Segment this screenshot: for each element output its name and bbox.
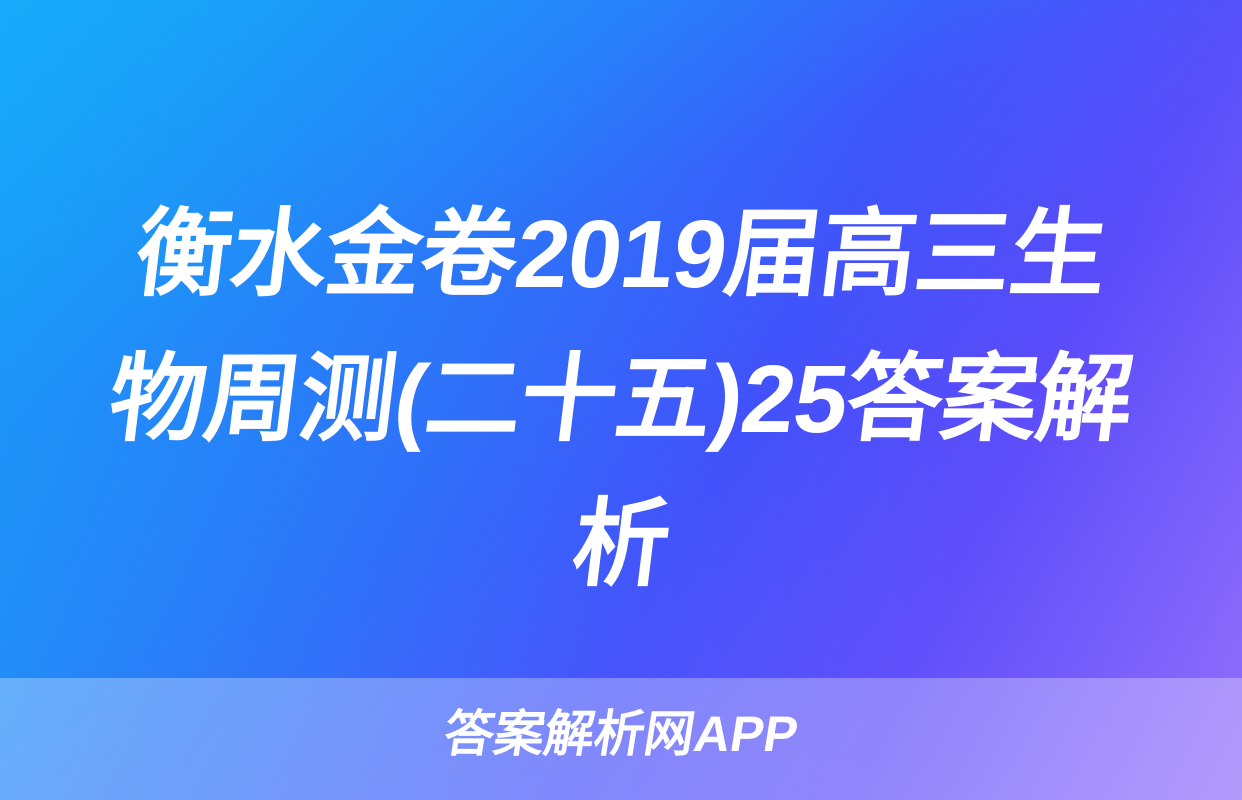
title-line-3: 析 (19, 472, 1223, 617)
poster-canvas: 衡水金卷2019届高三生 物周测(二十五)25答案解 析 答案解析网APP (0, 0, 1242, 800)
title-line-1: 衡水金卷2019届高三生 (19, 182, 1223, 327)
title-line-2: 物周测(二十五)25答案解 (19, 327, 1223, 472)
poster-title: 衡水金卷2019届高三生 物周测(二十五)25答案解 析 (0, 182, 1242, 617)
footer-brand-label: 答案解析网APP (0, 704, 1242, 764)
